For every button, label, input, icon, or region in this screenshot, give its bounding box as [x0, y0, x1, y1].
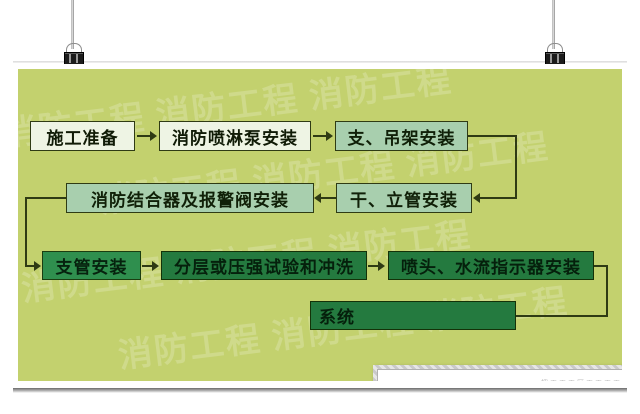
- site-logo-microtext: 搜工工工区工工工工: [541, 378, 622, 381]
- edge-n3-n4-line-vertical: [515, 135, 517, 198]
- flow-node-sprinkler-head-flow-indicator-installation[interactable]: 喷头、水流指示器安装: [388, 251, 594, 280]
- poster-bottom-shadow: [13, 388, 627, 393]
- poster-frame: 消防工程 消防工程 消防工程 消防工程 消防工程 消防工程 消防工程 消防工程 …: [13, 64, 627, 386]
- edge-n3-n4-line-top: [468, 135, 517, 137]
- site-logo-inner: 搜虎精品社区 www.souho.net 搜工工工区工工工工: [377, 369, 622, 381]
- hanger-wire-icon: [552, 0, 555, 49]
- edge-n5-n6-line-vertical: [25, 197, 27, 266]
- hanger-wire-icon: [71, 0, 74, 49]
- edge-n6-n7-arrowhead-icon: [152, 261, 159, 271]
- edge-n8-n9-line-vertical: [606, 265, 608, 317]
- flame-spiral-icon: [384, 379, 462, 382]
- flow-node-layered-pressure-test-flushing[interactable]: 分层或压强试验和冲洗: [161, 251, 367, 280]
- edge-n1-n2-line: [137, 135, 151, 137]
- edge-n3-n4-arrowhead-icon: [473, 193, 480, 203]
- edge-n2-n3-line: [313, 135, 327, 137]
- flow-node-bracket-hanger-installation[interactable]: 支、吊架安装: [335, 121, 468, 151]
- flow-node-siamese-connection-alarm-valve-installation[interactable]: 消防结合器及报警阀安装: [66, 183, 314, 213]
- edge-n2-n3-arrowhead-icon: [326, 131, 333, 141]
- hanging-rail: [13, 61, 627, 63]
- binder-clip-right: [543, 0, 565, 64]
- flow-node-construction-preparation[interactable]: 施工准备: [30, 121, 135, 151]
- flowchart: 施工准备 消防喷淋泵安装 支、吊架安装 干、立管安装 消防结合器及报警阀安装: [18, 69, 622, 381]
- site-logo-watermark: 搜虎精品社区 www.souho.net 搜工工工区工工工工: [373, 365, 622, 381]
- edge-n4-n5-line: [320, 197, 336, 199]
- edge-n4-n5-arrowhead-icon: [314, 193, 321, 203]
- binder-clip-left: [62, 0, 84, 64]
- poster-canvas: 消防工程 消防工程 消防工程 消防工程 消防工程 消防工程 消防工程 消防工程 …: [18, 69, 622, 381]
- flow-node-sprinkler-pump-installation[interactable]: 消防喷淋泵安装: [159, 121, 311, 151]
- edge-n1-n2-arrowhead-icon: [150, 131, 157, 141]
- flow-node-system-commissioning[interactable]: 系统: [310, 301, 516, 330]
- edge-n5-n6-line-top: [25, 197, 67, 199]
- edge-n3-n4-line-bottom: [480, 197, 517, 199]
- flow-node-branch-pipe-installation[interactable]: 支管安装: [42, 251, 141, 280]
- flow-node-main-riser-pipe-installation[interactable]: 干、立管安装: [336, 183, 472, 213]
- edge-n5-n6-arrowhead-icon: [34, 261, 41, 271]
- edge-n7-n8-arrowhead-icon: [378, 261, 385, 271]
